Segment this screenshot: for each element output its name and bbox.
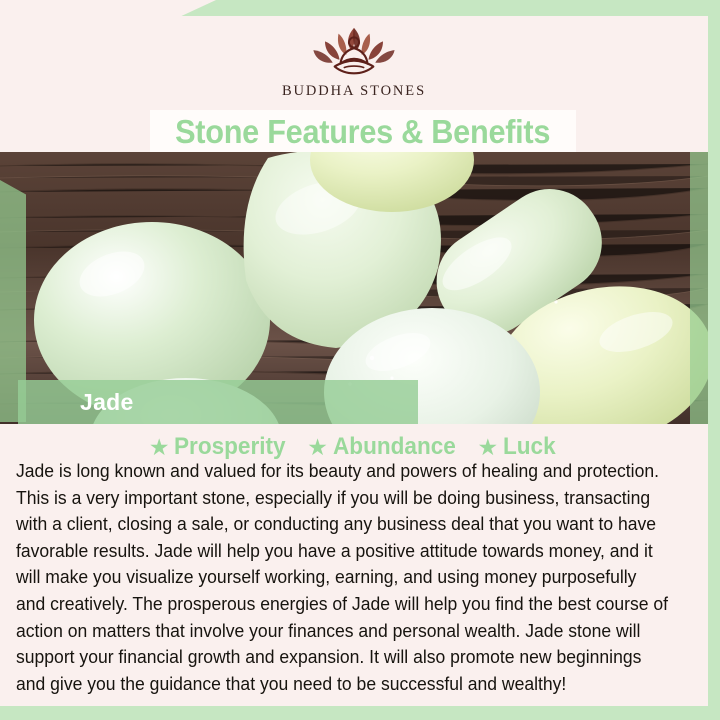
benefit-label: Prosperity bbox=[174, 433, 286, 461]
benefit-luck: ★ Luck bbox=[478, 433, 560, 461]
lotus-meditation-icon bbox=[295, 24, 413, 82]
star-icon: ★ bbox=[307, 436, 328, 459]
benefit-prosperity: ★ Prosperity bbox=[149, 433, 293, 461]
star-icon: ★ bbox=[478, 436, 499, 459]
stone-name-band: Jade bbox=[18, 380, 418, 424]
photo-right-accent-strip bbox=[690, 152, 708, 424]
benefit-label: Abundance bbox=[333, 433, 456, 461]
top-accent-notch bbox=[0, 0, 216, 16]
brand-name: BUDDHA STONES bbox=[282, 83, 426, 100]
benefit-label: Luck bbox=[503, 433, 556, 461]
stone-name-label: Jade bbox=[80, 389, 134, 416]
brand-header: BUDDHA STONES bbox=[0, 16, 708, 108]
title-banner: Stone Features & Benefits bbox=[150, 110, 576, 154]
star-icon: ★ bbox=[149, 436, 170, 459]
stone-description: Jade is long known and valued for its be… bbox=[16, 458, 670, 697]
benefit-abundance: ★ Abundance bbox=[307, 433, 463, 461]
page-title: Stone Features & Benefits bbox=[175, 113, 550, 151]
infographic-page: BUDDHA STONES Stone Features & Benefits bbox=[0, 0, 720, 720]
